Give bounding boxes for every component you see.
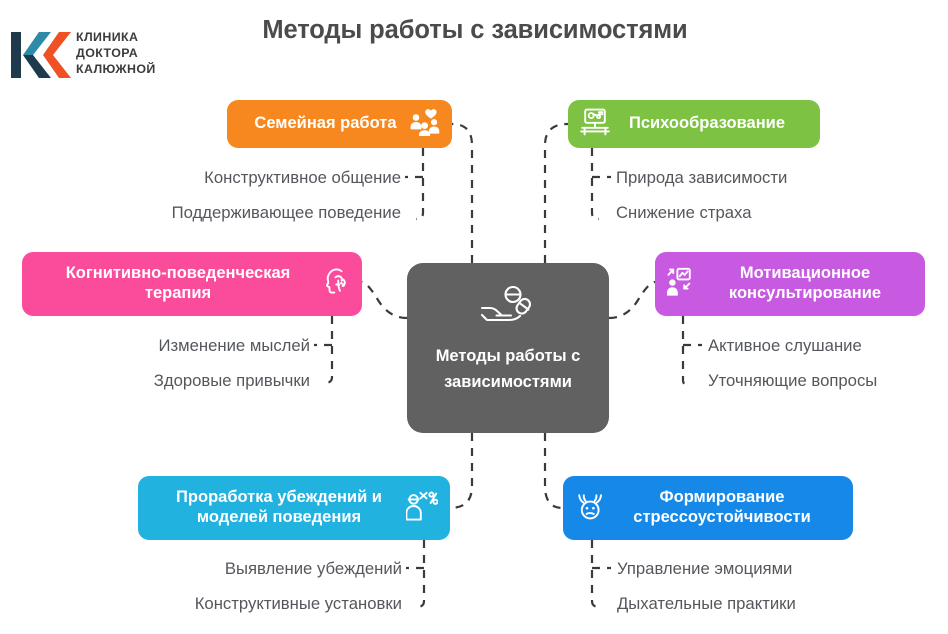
center-node-label: Методы работы с зависимостями: [418, 344, 598, 395]
leaf-psychoeducation-1: Природа зависимости: [616, 168, 787, 188]
person-percent-icon: [406, 491, 438, 526]
branch-node-stress-label: Формирование стрессоустойчивости: [607, 488, 837, 528]
branch-node-family[interactable]: Семейная работа: [227, 100, 452, 148]
link-psychoeducation-leaf-2: [592, 148, 599, 219]
leaf-psychoeducation-2: Снижение страха: [616, 203, 751, 223]
head-brain-gear-icon: [320, 267, 350, 302]
family-heart-icon: [410, 108, 440, 141]
center-node[interactable]: Методы работы с зависимостями: [407, 263, 609, 433]
branch-node-psychoeducation-label: Психообразование: [610, 114, 804, 134]
link-center-beliefs: [450, 433, 472, 508]
person-growth-chart-icon: [667, 267, 699, 302]
leaf-family-2: Поддерживающее поведение: [60, 203, 401, 223]
link-center-motivational: [609, 282, 655, 318]
branch-node-motivational[interactable]: Мотивационное консультирование: [655, 252, 925, 316]
branch-node-beliefs-label: Проработка убеждений и моделей поведения: [152, 488, 406, 528]
infographic-canvas: Клиника доктора Калюжной Методы работы с…: [0, 0, 948, 634]
link-center-psychoeducation: [545, 124, 568, 263]
leaf-family-1: Конструктивное общение: [60, 168, 401, 188]
link-beliefs-leaf-2: [417, 540, 424, 607]
leaf-stress-2: Дыхательные практики: [617, 594, 796, 614]
branch-node-motivational-label: Мотивационное консультирование: [699, 264, 911, 304]
branch-node-family-label: Семейная работа: [241, 114, 410, 134]
link-center-cbt: [362, 282, 407, 318]
link-motivational-leaf-2: [683, 316, 690, 386]
stressed-face-icon: [575, 491, 607, 526]
leaf-motivational-1: Активное слушание: [708, 336, 862, 356]
branch-node-psychoeducation[interactable]: Психообразование: [568, 100, 820, 148]
link-center-stress: [545, 433, 563, 508]
hand-holding-pills-icon: [479, 285, 537, 332]
branch-node-stress[interactable]: Формирование стрессоустойчивости: [563, 476, 853, 540]
branch-node-beliefs[interactable]: Проработка убеждений и моделей поведения: [138, 476, 450, 540]
leaf-beliefs-2: Конструктивные установки: [70, 594, 402, 614]
leaf-beliefs-1: Выявление убеждений: [70, 559, 402, 579]
leaf-stress-1: Управление эмоциями: [617, 559, 792, 579]
leaf-cbt-2: Здоровые привычки: [20, 371, 310, 391]
leaf-cbt-1: Изменение мыслей: [20, 336, 310, 356]
link-family-leaf-2: [416, 148, 423, 219]
presentation-board-icon: [580, 108, 610, 141]
branch-node-cbt-label: Когнитивно-поведенческая терапия: [36, 264, 320, 304]
branch-node-cbt[interactable]: Когнитивно-поведенческая терапия: [22, 252, 362, 316]
link-stress-leaf-2: [592, 540, 599, 607]
link-cbt-leaf-2: [325, 316, 332, 383]
leaf-motivational-2: Уточняющие вопросы: [708, 371, 877, 391]
link-center-family: [452, 124, 472, 263]
